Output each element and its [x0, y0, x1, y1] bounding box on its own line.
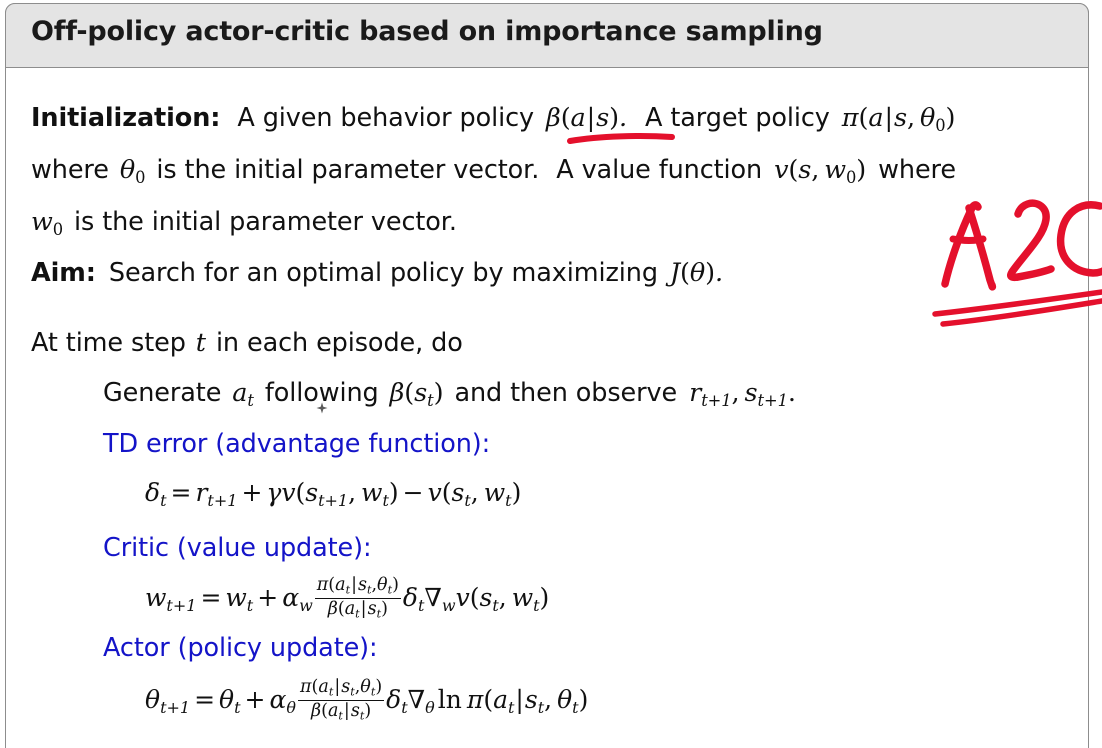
math-pi-a-s-theta0: π(a|s, θ0)	[842, 103, 956, 133]
cursor-caret-icon	[316, 402, 328, 414]
heading-critic: Critic (value update):	[103, 533, 371, 563]
aim-line: Aim:Search for an optimal policy by maxi…	[31, 258, 723, 288]
line2-text-4: where	[878, 155, 956, 185]
generate-text-1: Generate	[103, 378, 221, 408]
initialization-text-2: A target policy	[645, 103, 830, 133]
equation-actor: θt+1=θt+αθπ(at|st,θt)β(at|st)δt∇θln π(at…	[145, 678, 588, 723]
equation-td-error: δt=rt+1+γv(st+1, wt)−v(st, wt)	[145, 478, 521, 510]
math-a-t: at	[232, 378, 254, 408]
importance-ratio-actor: π(at|st,θt)β(at|st)	[298, 678, 384, 723]
page-title: Off-policy actor-critic based on importa…	[31, 16, 823, 47]
initialization-line-2: whereθ0is the initial parameter vector.A…	[31, 155, 956, 187]
importance-ratio-critic: π(at|st,θt)β(at|st)	[315, 576, 401, 621]
initialization-line-3: w0is the initial parameter vector.	[31, 207, 457, 239]
loop-header-line: At time steptin each episode, do	[31, 328, 463, 358]
slide-root: Off-policy actor-critic based on importa…	[0, 0, 1102, 748]
math-beta-s-t: β(st)	[390, 378, 444, 408]
line2-text-1: where	[31, 155, 109, 185]
line2-text-2: is the initial parameter vector.	[156, 155, 539, 185]
math-theta0: θ0	[120, 155, 146, 185]
line2-text-3: A value function	[556, 155, 762, 185]
aim-label: Aim:	[31, 258, 96, 288]
initialization-line-1: Initialization:A given behavior policyβ(…	[31, 103, 955, 135]
math-J-theta: J(θ).	[670, 258, 723, 288]
generate-line: Generateatfollowingβ(st)and then observe…	[103, 378, 796, 410]
loop-text-2: in each episode, do	[216, 328, 463, 358]
heading-td-error: TD error (advantage function):	[103, 429, 490, 459]
initialization-text-1: A given behavior policy	[237, 103, 534, 133]
math-w0: w0	[31, 207, 63, 237]
math-v-s-w0: v(s, w0)	[774, 155, 866, 185]
equation-critic: wt+1=wt+αwπ(at|st,θt)β(at|st)δt∇wv(st, w…	[145, 576, 549, 621]
aim-text: Search for an optimal policy by maximizi…	[109, 258, 658, 288]
loop-text-1: At time step	[31, 328, 186, 358]
heading-actor: Actor (policy update):	[103, 633, 378, 663]
math-observations: rt+1, st+1.	[689, 378, 796, 408]
initialization-label: Initialization:	[31, 103, 220, 133]
math-t: t	[196, 328, 206, 358]
generate-text-3: and then observe	[454, 378, 677, 408]
line3-text: is the initial parameter vector.	[74, 207, 457, 237]
math-beta-a-s: β(a|s).	[546, 103, 627, 133]
